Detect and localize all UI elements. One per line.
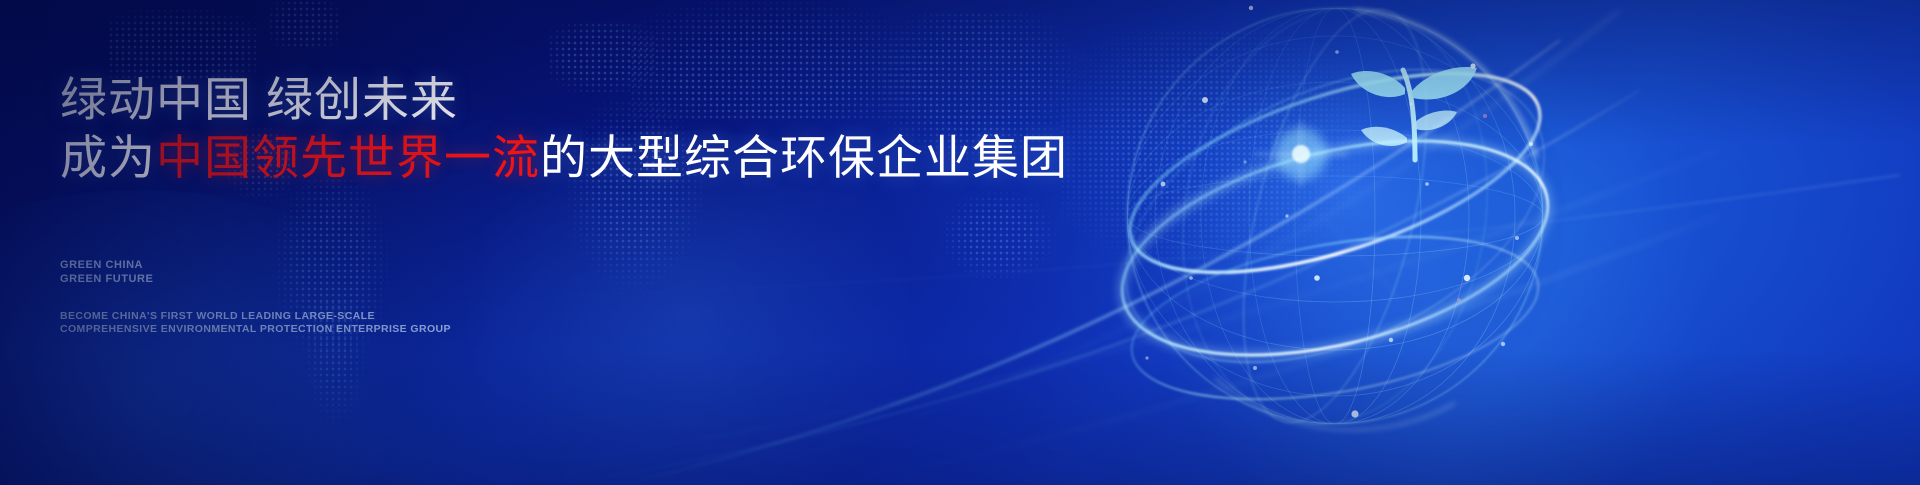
description-english-line-2: COMPREHENSIVE ENVIRONMENTAL PROTECTION E… [60, 323, 451, 336]
globe-particles-tint [1243, 114, 1487, 302]
map-region-north-america [108, 8, 258, 82]
slogan-english-line-1: GREEN CHINA [60, 259, 153, 273]
slogan-english: GREEN CHINA GREEN FUTURE [60, 259, 153, 286]
glow-bloom-globe [1120, 10, 1740, 485]
headline-block: 绿动中国 绿创未来 成为中国领先世界一流的大型综合环保企业集团 [60, 72, 1040, 186]
wireframe-globe [1055, 0, 1615, 485]
headline-line-1: 绿动中国 绿创未来 [60, 72, 1040, 128]
headline-line-2-suffix: 的大型综合环保企业集团 [540, 131, 1068, 184]
slogan-english-line-2: GREEN FUTURE [60, 273, 153, 287]
headline-line-2-prefix: 成为 [60, 131, 156, 184]
sprout-leaf-icon [1351, 67, 1477, 160]
map-region-south-america [270, 178, 402, 388]
description-english-line-1: BECOME CHINA'S FIRST WORLD LEADING LARGE… [60, 310, 451, 323]
glow-bloom-left [0, 190, 460, 485]
globe-core-flare [1255, 120, 1347, 188]
description-english: BECOME CHINA'S FIRST WORLD LEADING LARGE… [60, 310, 451, 335]
map-region-greenland [268, 0, 342, 48]
map-region-dense-patch [1060, 30, 1390, 260]
headline-line-2-highlight: 中国领先世界一流 [156, 131, 540, 184]
map-region-oceania [938, 190, 1058, 282]
headline-line-2: 成为中国领先世界一流的大型综合环保企业集团 [60, 130, 1040, 186]
globe-particles [1145, 6, 1533, 418]
hero-banner: 绿动中国 绿创未来 成为中国领先世界一流的大型综合环保企业集团 GREEN CH… [0, 0, 1920, 485]
